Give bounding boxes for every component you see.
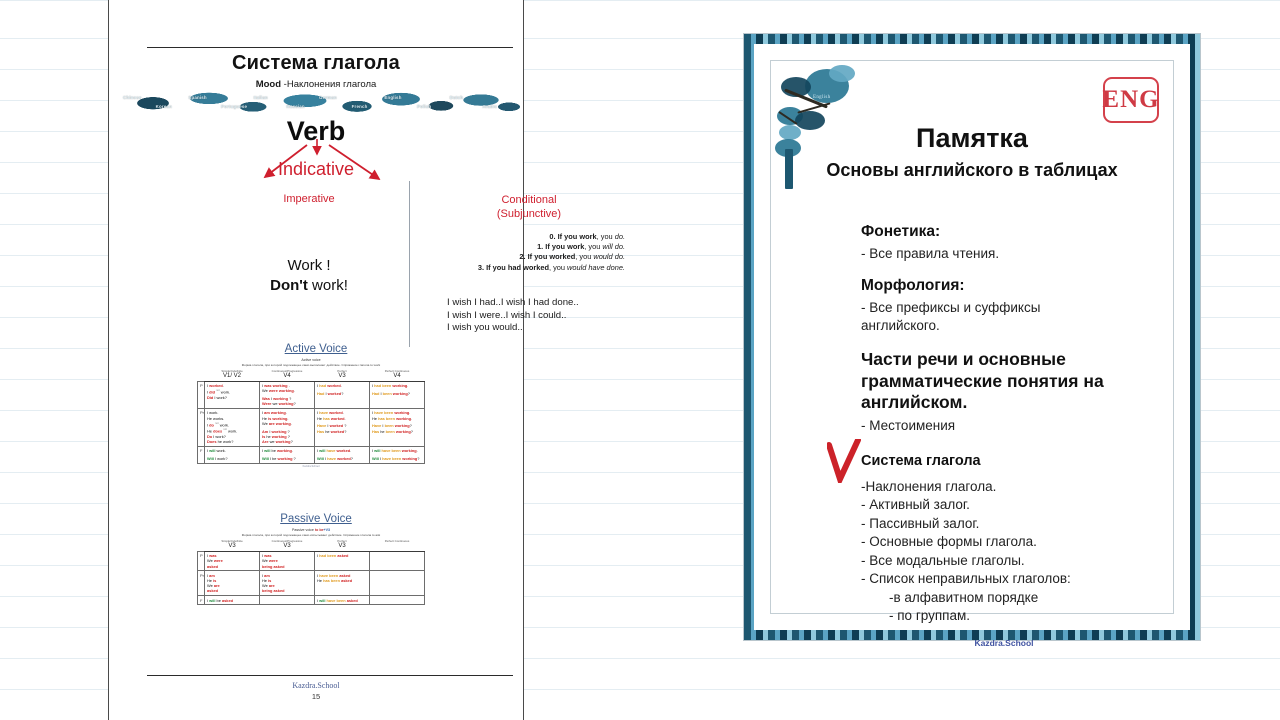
wish-item: I wish you would.. [447, 322, 637, 335]
section-parts-of-speech-item-0: - Местоимения [861, 417, 1147, 435]
left-page-subtitle: Mood -Наклонения глагола [109, 79, 523, 90]
table-cell: I will have worked.Will I have worked? [315, 446, 370, 463]
verb-system-subitem: -в алфавитном порядке [861, 589, 1147, 608]
top-rule [147, 47, 513, 48]
imperative-example-2: Don't work! [239, 276, 379, 296]
conditional-label-line1: Conditional [439, 193, 619, 207]
table-cell-line: Does he work? [207, 439, 257, 444]
table-cell: I worked.I did not work.Did I work? [205, 381, 260, 408]
lang-word: Korean [156, 104, 172, 109]
section-verb-system-heading: Система глагола [861, 453, 1147, 469]
table-column-header: Simple/IndefiniteV3 [205, 538, 260, 551]
passive-caption-formula-2: +V3 [324, 528, 331, 532]
table-cell: I was working .We were working.Was I wor… [260, 381, 315, 408]
table-cell-line: He has been asked [317, 578, 367, 583]
table-cell-line: I had been asked [317, 553, 367, 558]
passive-voice-heading: Passive Voice [109, 513, 523, 525]
table-row: PrI amHe isWe areaskedI amHe isWe arebei… [198, 571, 425, 596]
conditional-item: 0. If you work, you do. [441, 232, 625, 242]
lang-word: English [384, 95, 401, 100]
table-cell-line: asked [207, 588, 257, 593]
table-cell-line: Had I been working? [372, 391, 422, 396]
table-cell: I will be working.Will I be working ? [260, 446, 315, 463]
table-cell-line: Did I work? [207, 395, 257, 400]
passive-voice-table: Simple/IndefiniteV3Continuous/Progressiv… [197, 538, 425, 605]
imperative-negative-word: Don't [270, 277, 308, 294]
lang-word: Polish [417, 104, 431, 109]
section-morphology: Морфология: - Все префиксы и суффиксы ан… [861, 277, 1147, 335]
column-divider [409, 181, 410, 347]
conditional-item: 3. If you had worked, you would have don… [441, 263, 625, 273]
left-page: Система глагола Mood -Наклонения глагола… [108, 0, 524, 720]
table-cell-line: Are we working? [262, 439, 312, 444]
table-cell: I have been working.He has been working.… [370, 408, 425, 446]
table-cell: I have worked.He has worked.Have I worke… [315, 408, 370, 446]
table-cell: I will work.Will I work? [205, 446, 260, 463]
table-header-spacer [198, 538, 205, 551]
logo-word: English [813, 95, 830, 100]
table-cell-line: Has he been working? [372, 429, 422, 434]
right-page-title: Памятка [771, 123, 1173, 154]
wish-item: I wish I had..I wish I had done.. [447, 297, 637, 310]
row-tense-marker: Pr [198, 571, 205, 596]
passive-voice-caption-sub: Форма глагола, при которой подлежащее са… [197, 533, 425, 538]
wish-sentences-list: I wish I had..I wish I had done..I wish … [447, 297, 637, 335]
imperative-example-1: Work ! [239, 256, 379, 276]
table-cell: I amHe isWe areasked [205, 571, 260, 596]
table-row: FI will work.Will I work?I will be worki… [198, 446, 425, 463]
table-cell: I had been working.Had I been working? [370, 381, 425, 408]
column-vform-label: V4 [262, 373, 313, 381]
left-page-title: Система глагола [109, 52, 523, 75]
right-page-subtitle: Основы английского в таблицах [771, 160, 1173, 181]
conditional-label: Conditional (Subjunctive) [439, 193, 619, 221]
right-page-brand: Kazdra.School [861, 638, 1147, 648]
verb-system-subitem: - по группам. [861, 607, 1147, 626]
lang-word: Russian [286, 104, 304, 109]
table-cell [260, 596, 315, 605]
table-cell-line: being asked [262, 588, 312, 593]
table-cell: I work.He works.I do not work.He does no… [205, 408, 260, 446]
left-page-number: 15 [109, 692, 523, 701]
section-phonetics: Фонетика: - Все правила чтения. [861, 223, 1147, 263]
table-cell: I have been askedHe has been asked [315, 571, 370, 596]
table-cell [370, 596, 425, 605]
table-column-header: PerfectV3 [315, 368, 370, 381]
row-tense-marker: F [198, 446, 205, 463]
table-column-header: Continuous/ProgressiveV4 [260, 368, 315, 381]
passive-voice-table-block: Passive voice to be+V3 Форма глагола, пр… [197, 528, 425, 605]
table-cell [370, 551, 425, 571]
section-verb-system-items: -Наклонения глагола.- Активный залог.- П… [861, 478, 1147, 589]
table-row: PI wasWe wereaskedI wasWe werebeing aske… [198, 551, 425, 571]
table-cell-line: Will I have worked? [317, 456, 367, 461]
row-tense-marker: Pr [198, 408, 205, 446]
table-cell: I had worked.Had I worked? [315, 381, 370, 408]
passive-caption-formula-1: to be [315, 528, 324, 532]
table-cell [370, 571, 425, 596]
lang-word: Italian [254, 95, 268, 100]
verb-system-item: - Пассивный залог. [861, 515, 1147, 534]
table-cell: I had been asked [315, 551, 370, 571]
column-vform-label: V3 [207, 543, 258, 551]
active-voice-caption-sub: Форма глагола, при которой подлежащее са… [197, 363, 425, 368]
right-page-inner-border: English ENG Памятка Основы английского в… [770, 60, 1174, 614]
right-page-decor-frame: English ENG Памятка Основы английского в… [744, 34, 1200, 640]
table-column-header: PerfectV3 [315, 538, 370, 551]
imperative-negative-rest: work! [308, 277, 348, 294]
conditional-item: 2. If you worked, you would do. [441, 252, 625, 262]
column-tiny-label: Perfect Continuous [372, 540, 423, 543]
table-cell-line: Has he worked? [317, 429, 367, 434]
table-cell-line: Will I work? [207, 456, 257, 461]
subtitle-rest: -Наклонения глагола [281, 79, 376, 90]
imperative-label: Imperative [249, 193, 369, 205]
row-tense-marker: P [198, 551, 205, 571]
lang-word: Portuguese [221, 104, 247, 109]
active-voice-table: Simple/IndefiniteV1/ V2Continuous/Progre… [197, 368, 425, 463]
column-vform-label: V4 [372, 373, 423, 381]
eng-stamp: ENG [1103, 77, 1159, 123]
lang-word: German [319, 95, 337, 100]
table-cell: I will have been working.Will I have bee… [370, 446, 425, 463]
languages-decor-strip: ChineseKoreanSpanishPortugueseItalianRus… [121, 90, 521, 114]
table-cell-line: I will be asked [207, 598, 257, 603]
table-cell-line: being asked [262, 564, 312, 569]
passive-caption-title-text: Passive voice [292, 528, 314, 532]
checkmark-icon [827, 439, 861, 483]
column-vform-label: V3 [317, 373, 368, 381]
verb-system-item: - Все модальные глаголы. [861, 552, 1147, 571]
footer-rule [147, 675, 513, 676]
column-vform-label: V1/ V2 [207, 373, 258, 381]
indicative-label: Indicative [109, 159, 523, 180]
active-voice-caption: Active voice Форма глагола, при которой … [197, 358, 425, 367]
verb-system-item: -Наклонения глагола. [861, 478, 1147, 497]
table-cell: I wasWe werebeing asked [260, 551, 315, 571]
column-vform-label: V3 [317, 543, 368, 551]
section-verb-system: Система глагола -Наклонения глагола.- Ак… [861, 453, 1147, 626]
table-column-header: Perfect ContinuousV4 [370, 368, 425, 381]
active-voice-table-block: Active voice Форма глагола, при которой … [197, 358, 425, 468]
table-cell-line: Had I worked? [317, 391, 367, 396]
right-page-body: Фонетика: - Все правила чтения. Морфолог… [861, 223, 1147, 626]
lang-word: Chinese [123, 95, 141, 100]
subtitle-bold: Mood [256, 79, 281, 90]
passive-voice-caption: Passive voice to be+V3 Форма глагола, пр… [197, 528, 425, 537]
conditional-item: 1. If you work, you will do. [441, 242, 625, 252]
active-voice-heading: Active Voice [109, 343, 523, 355]
verb-system-item: - Список неправильных глаголов: [861, 570, 1147, 589]
right-page: English ENG Памятка Основы английского в… [744, 34, 1200, 640]
verb-system-item: - Активный залог. [861, 496, 1147, 515]
section-parts-of-speech-heading: Части речи и основные грамматические пон… [861, 349, 1147, 414]
imperative-examples: Work ! Don't work! [239, 256, 379, 296]
table-cell-line: Were we working? [262, 401, 312, 406]
section-verb-system-subitems: -в алфавитном порядке - по группам. [861, 589, 1147, 626]
table-cell-line: Will I have been working? [372, 456, 422, 461]
section-morphology-heading: Морфология: [861, 277, 1147, 295]
row-tense-marker: F [198, 596, 205, 605]
section-parts-of-speech: Части речи и основные грамматические пон… [861, 349, 1147, 435]
table-cell-line: I will have been working. [372, 448, 422, 453]
table-row: PrI work.He works.I do not work.He does … [198, 408, 425, 446]
table-cell-line: Will I be working ? [262, 456, 312, 461]
column-vform-label: V3 [262, 543, 313, 551]
table-cell: I will have been asked [315, 596, 370, 605]
wish-item: I wish I were..I wish I could.. [447, 310, 637, 323]
active-voice-table-footer: Kazdra.School [197, 465, 425, 468]
conditional-sentences-list: 0. If you work, you do.1. If you work, y… [441, 232, 631, 273]
table-column-header: Simple/IndefiniteV1/ V2 [205, 368, 260, 381]
verb-system-item: - Основные формы глагола. [861, 533, 1147, 552]
table-cell: I wasWe wereasked [205, 551, 260, 571]
table-cell: I will be asked [205, 596, 260, 605]
conditional-label-line2: (Subjunctive) [439, 207, 619, 221]
lang-word: Arabic [482, 104, 497, 109]
section-phonetics-heading: Фонетика: [861, 223, 1147, 241]
section-phonetics-item-0: - Все правила чтения. [861, 245, 1147, 263]
section-morphology-item-1: английского. [861, 317, 1147, 335]
lang-word: Spanish [188, 95, 206, 100]
table-column-header: Perfect Continuous [370, 538, 425, 551]
table-row: FI will be askedI will have been asked [198, 596, 425, 605]
table-cell-line: asked [207, 564, 257, 569]
table-cell: I am working.He is working.We are workin… [260, 408, 315, 446]
left-page-brand: Kazdra.School [109, 681, 523, 690]
table-row: PI worked.I did not work.Did I work?I wa… [198, 381, 425, 408]
lang-word: French [352, 104, 368, 109]
table-cell: I amHe isWe arebeing asked [260, 571, 315, 596]
lang-word: Dutch [450, 95, 463, 100]
table-cell-line: I will have been asked [317, 598, 367, 603]
row-tense-marker: P [198, 381, 205, 408]
section-morphology-item-0: - Все префиксы и суффиксы [861, 299, 1147, 317]
table-column-header: Continuous/ProgressiveV3 [260, 538, 315, 551]
table-header-spacer [198, 368, 205, 381]
